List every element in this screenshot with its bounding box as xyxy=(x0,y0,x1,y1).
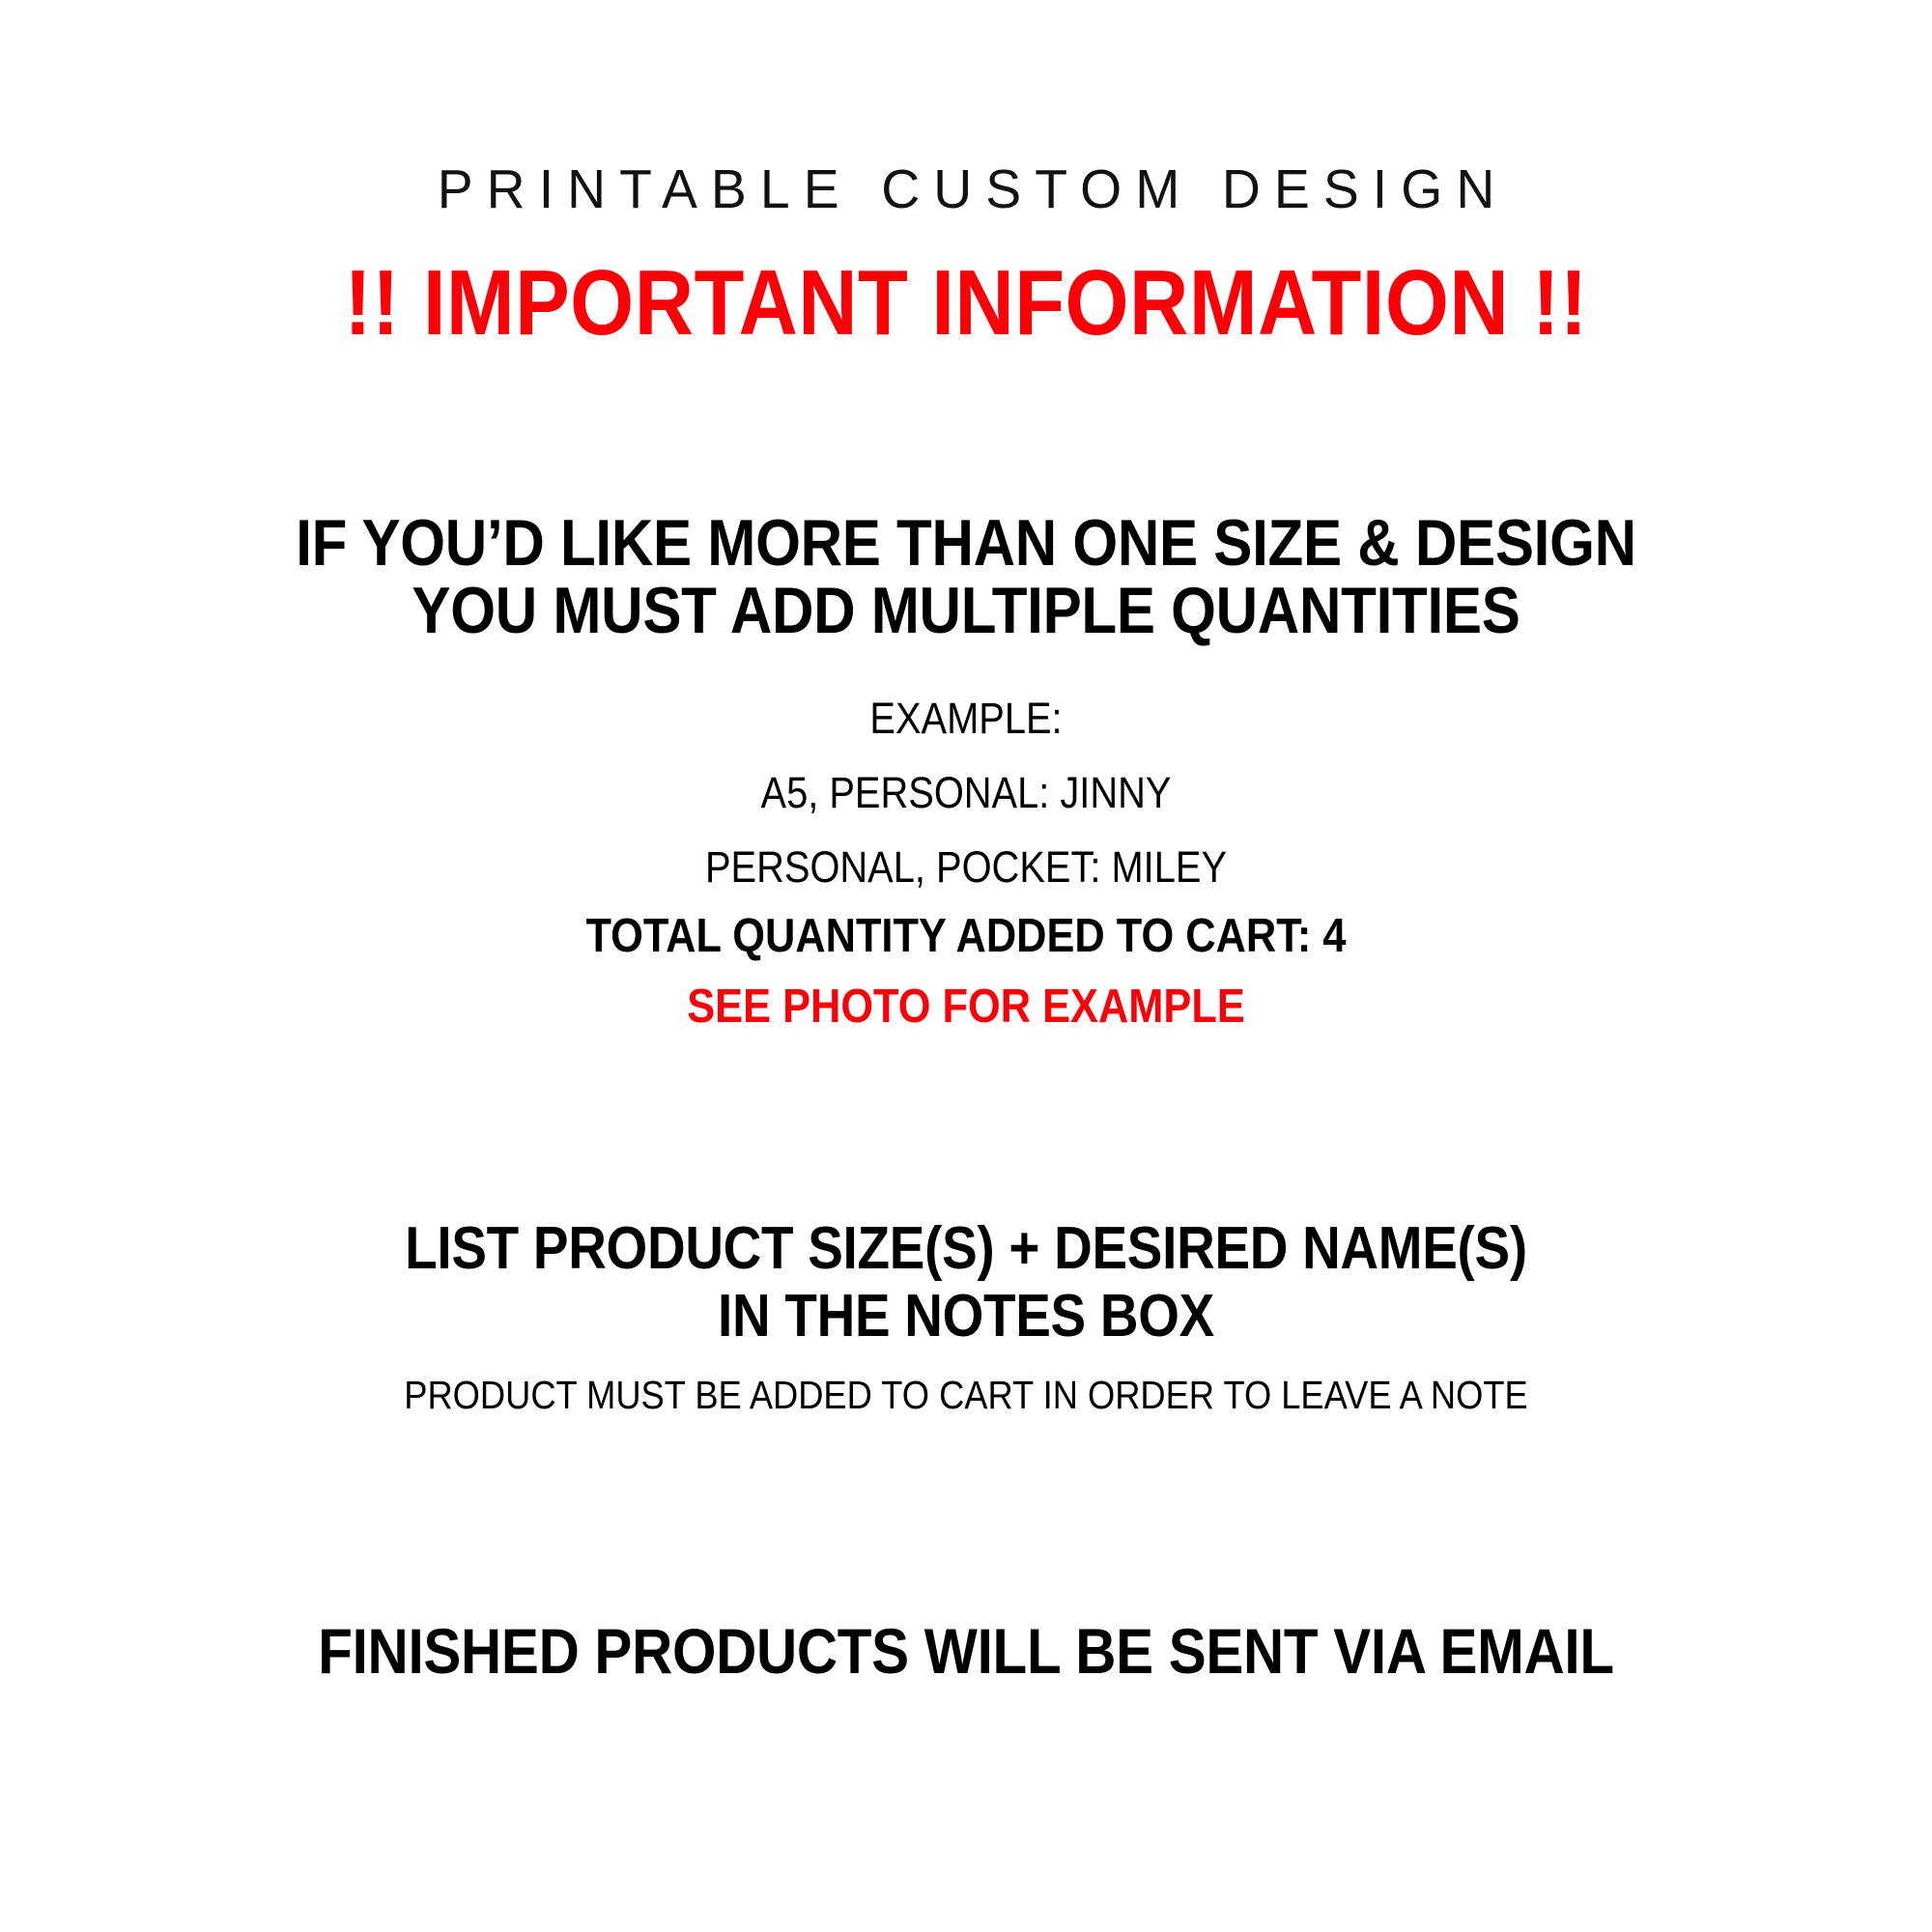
notes-notice-headline-line-1: LIST PRODUCT SIZE(S) + DESIRED NAME(S) xyxy=(111,1219,1821,1279)
notes-notice-headline-line-2: IN THE NOTES BOX xyxy=(111,1287,1821,1347)
printable-custom-design-poster: PRINTABLE CUSTOM DESIGN !! IMPORTANT INF… xyxy=(0,0,1932,1932)
see-photo-for-example-note: SEE PHOTO FOR EXAMPLE xyxy=(111,983,1821,1031)
quantity-notice-headline-line-1: IF YOU’D LIKE MORE THAN ONE SIZE & DESIG… xyxy=(111,510,1821,576)
example-label: EXAMPLE: xyxy=(111,696,1821,740)
page-eyebrow-title: PRINTABLE CUSTOM DESIGN xyxy=(29,162,1903,217)
important-information-heading: !! IMPORTANT INFORMATION !! xyxy=(111,257,1821,350)
delivery-notice: FINISHED PRODUCTS WILL BE SENT VIA EMAIL xyxy=(111,1619,1821,1683)
example-line-item: A5, PERSONAL: JINNY xyxy=(111,771,1821,814)
example-line-item: PERSONAL, POCKET: MILEY xyxy=(111,845,1821,889)
notes-notice-fineprint: PRODUCT MUST BE ADDED TO CART IN ORDER T… xyxy=(111,1376,1821,1415)
total-quantity-added-to-cart: TOTAL QUANTITY ADDED TO CART: 4 xyxy=(111,913,1821,960)
quantity-notice-headline-line-2: YOU MUST ADD MULTIPLE QUANTITIES xyxy=(111,578,1821,643)
